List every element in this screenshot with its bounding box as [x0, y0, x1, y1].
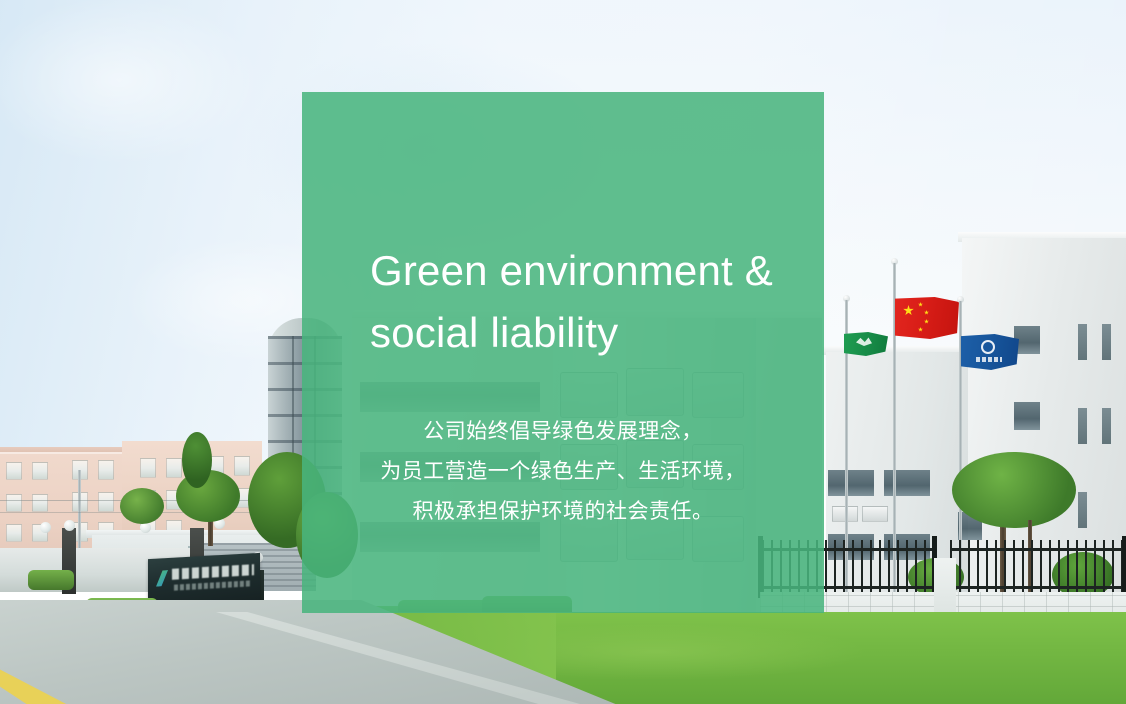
apartment-window [32, 494, 48, 512]
building-window [1014, 402, 1040, 430]
page-description: 公司始终倡导绿色发展理念， 为员工营造一个绿色生产、生活环境， 积极承担保护环境… [338, 412, 788, 532]
apartment-window [140, 458, 156, 478]
apartment-window [234, 456, 250, 476]
apartment-window [6, 524, 22, 542]
panel-content: Green environment & social liability 公司始… [302, 92, 824, 613]
wall-lamp [64, 520, 75, 531]
apartment-window [98, 492, 114, 512]
signboard-english-name [174, 580, 250, 590]
green-overlay-panel: Green environment & social liability 公司始… [302, 92, 824, 613]
hero-banner: Green environment & social liability 公司始… [0, 0, 1126, 704]
conifer-canopy [182, 432, 212, 488]
building-slit-window [1078, 324, 1087, 360]
building-slit-window [1078, 408, 1087, 444]
fence-rail [950, 548, 1126, 551]
building-slit-window [1078, 492, 1087, 528]
apartment-window [166, 458, 182, 478]
air-conditioner-unit [862, 506, 888, 522]
apartment-window [6, 462, 22, 480]
tree-canopy [120, 488, 164, 524]
tree-canopy [952, 452, 1076, 528]
building-slit-window [1102, 408, 1111, 444]
china-national-flag [895, 297, 959, 339]
page-title: Green environment & social liability [370, 240, 822, 364]
wall-lamp [40, 522, 51, 533]
building-window [884, 470, 930, 496]
building-window [828, 470, 874, 496]
apartment-window [98, 460, 114, 480]
fence-rail [950, 586, 1126, 589]
company-flag-text [976, 357, 1002, 362]
hedge [28, 570, 74, 590]
apartment-window [6, 494, 22, 512]
company-logo-icon [156, 570, 168, 587]
fence-post [1122, 536, 1126, 598]
company-flag-logo [981, 340, 995, 354]
signboard-chinese-name [172, 564, 254, 580]
apartment-window [32, 462, 48, 480]
building-slit-window [1102, 324, 1111, 360]
